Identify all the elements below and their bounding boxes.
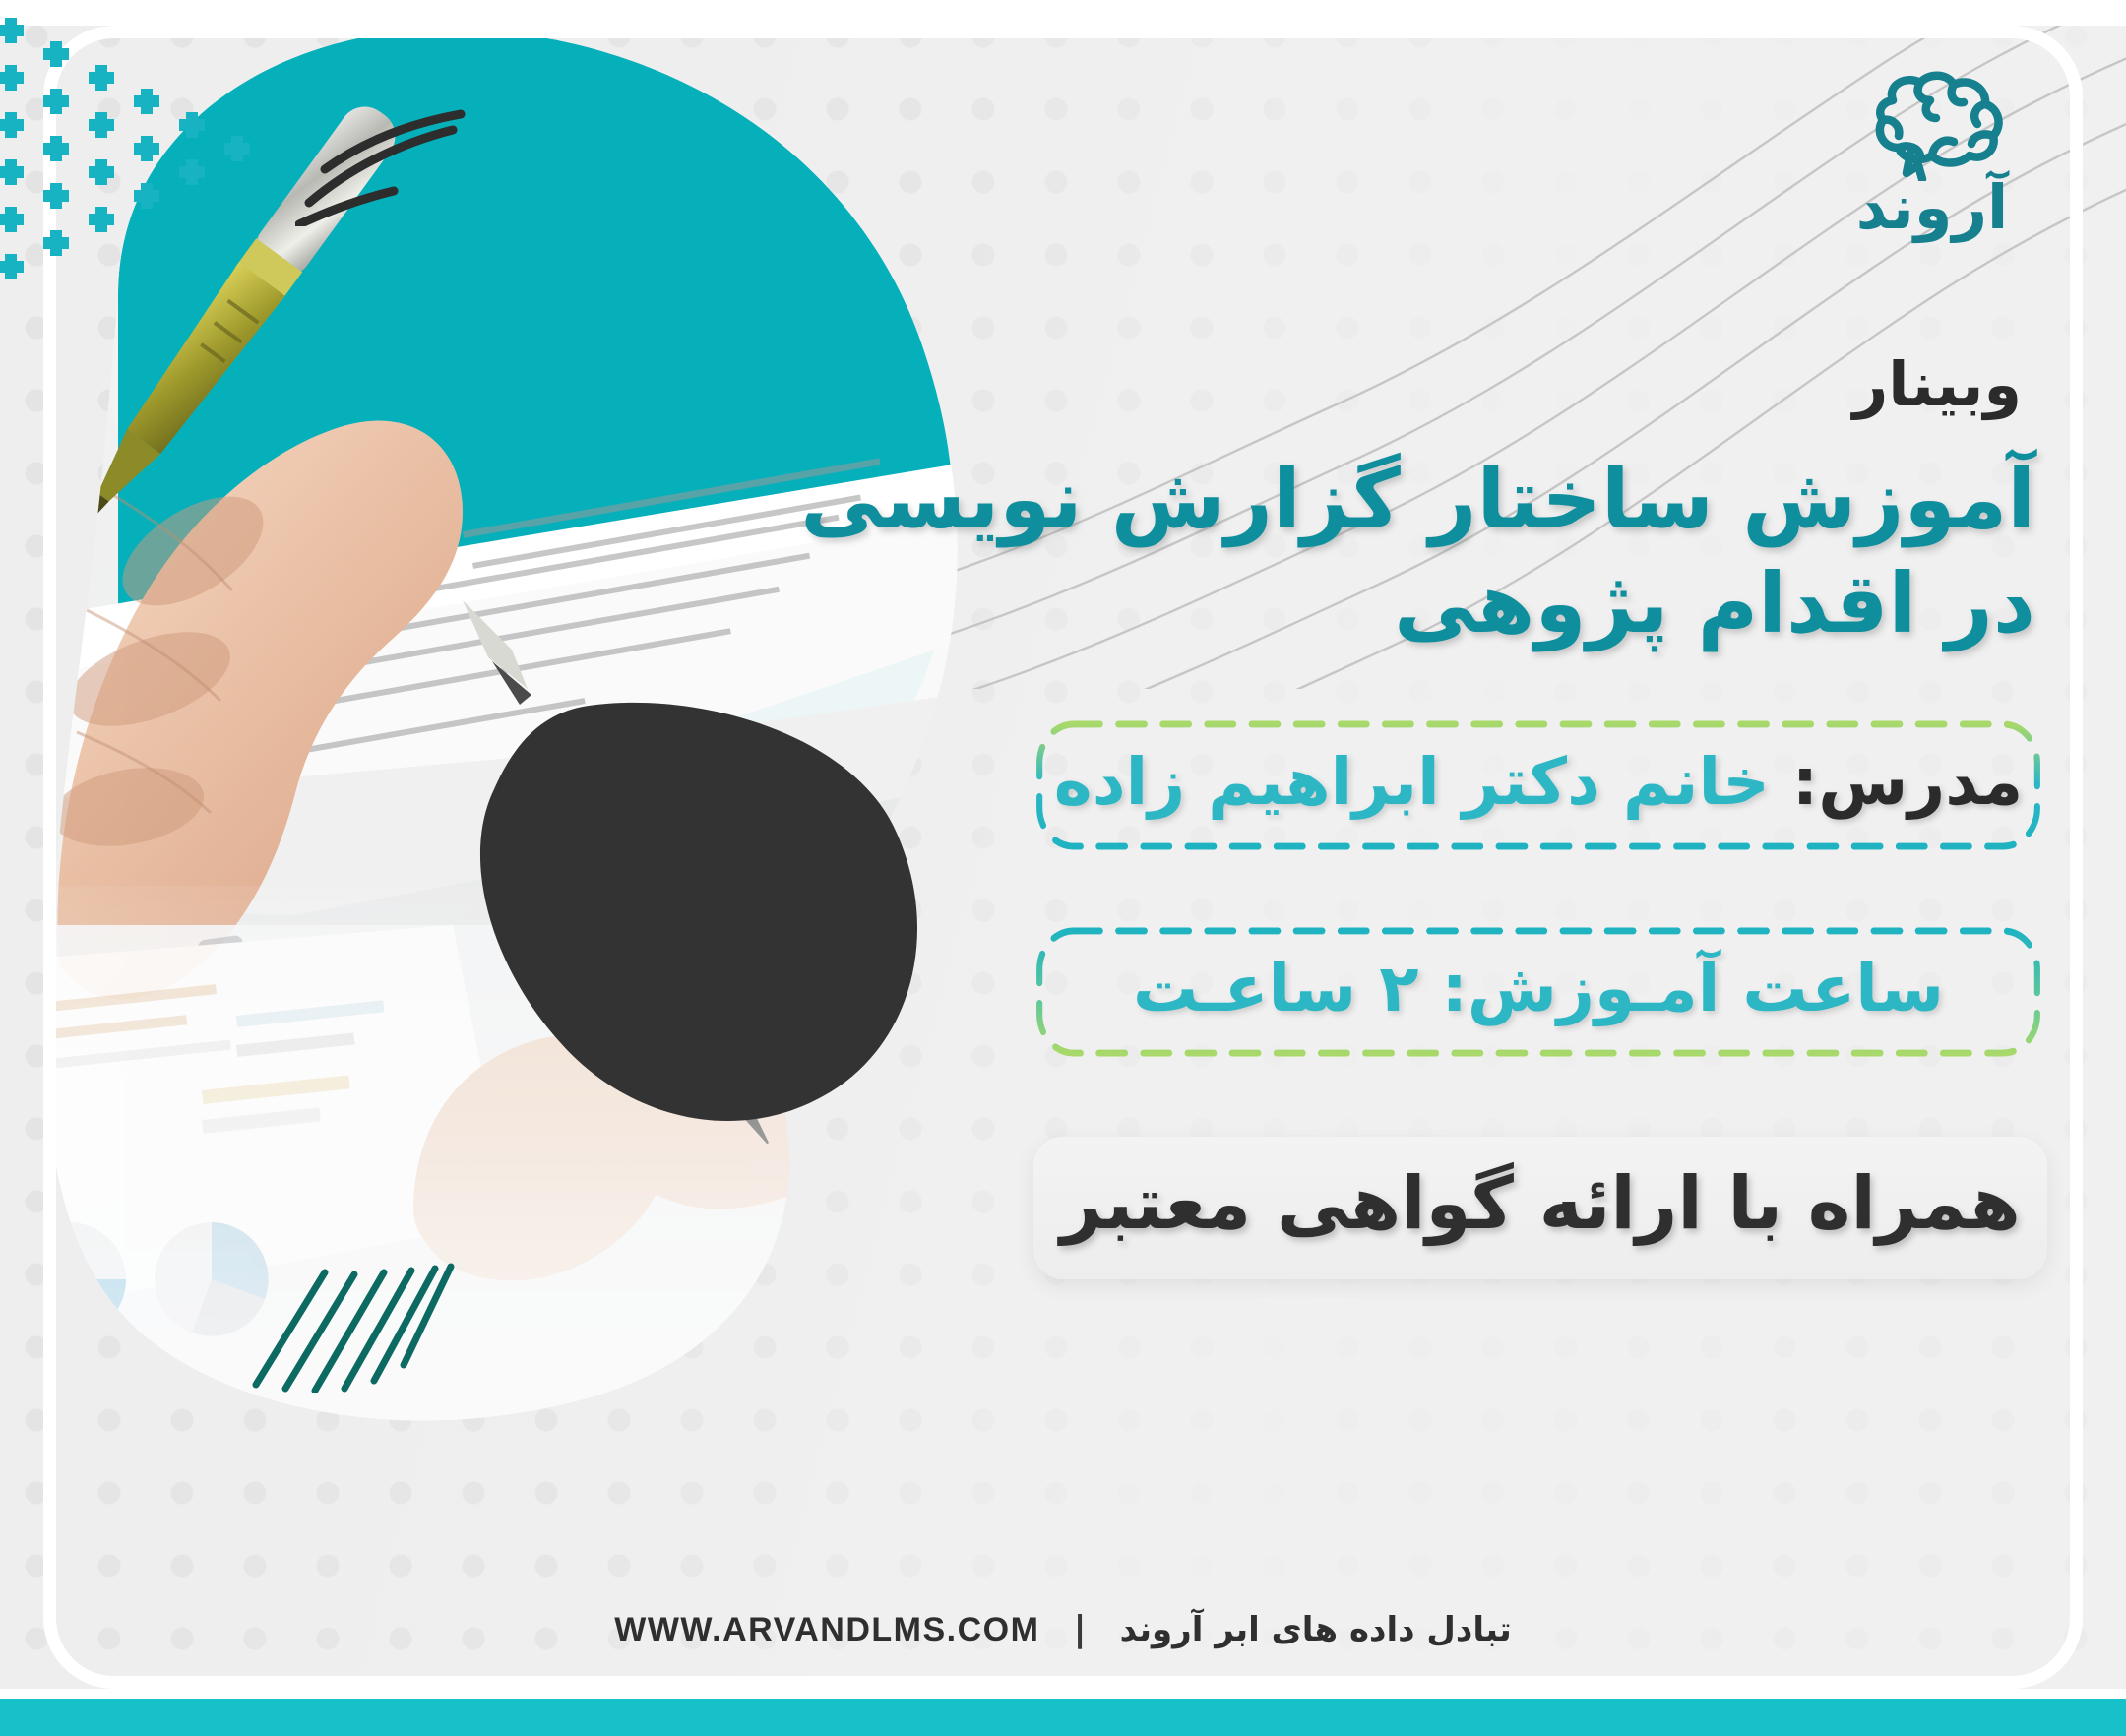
footer: تبادل داده های ابر آروند | WWW.ARVANDLMS… xyxy=(0,1610,2126,1649)
certificate-panel: همراه با ارائه گواهی معتبر xyxy=(1033,1137,2047,1279)
instructor-value: خانم دکتر ابراهیم زاده xyxy=(1054,744,1770,820)
content-column: وبینار آموزش ساختار گزارش نویسی در اقدام… xyxy=(1033,354,2057,1279)
pen-stroke-marks-icon xyxy=(295,108,522,226)
footer-tagline: تبادل داده های ابر آروند xyxy=(1120,1610,1512,1649)
duration-text: ساعت آمـوزش: ۲ ساعـت xyxy=(1133,952,1944,1026)
title-line-1: آموزش ساختار گزارش نویسی xyxy=(1033,449,2035,549)
kicker-label: وبینار xyxy=(1033,354,2022,415)
brain-icon xyxy=(1849,71,2015,181)
instructor-text: مدرس: خانم دکتر ابراهیم زاده xyxy=(1054,745,2024,820)
plus-grid-icon xyxy=(0,10,317,423)
page-title: آموزش ساختار گزارش نویسی در اقدام پژوهی xyxy=(1033,449,2035,654)
instructor-badge: مدرس: خانم دکتر ابراهیم زاده xyxy=(1033,717,2043,853)
instructor-label: مدرس: xyxy=(1792,744,2023,820)
certificate-text: همراه با ارائه گواهی معتبر xyxy=(1060,1162,2021,1246)
footer-website-url[interactable]: WWW.ARVANDLMS.COM xyxy=(614,1611,1039,1649)
bottom-accent-bar xyxy=(0,1699,2126,1736)
brand-logo[interactable]: آروند xyxy=(1819,71,2045,258)
poster-canvas: آروند وبینار آموزش ساختار گزارش نویسی در… xyxy=(0,0,2126,1736)
title-line-2: در اقدام پژوهی xyxy=(1033,553,2035,653)
footer-separator: | xyxy=(1073,1612,1086,1647)
frame-top-mask xyxy=(0,0,2126,26)
diagonal-hatch-icon xyxy=(248,1255,474,1393)
duration-badge: ساعت آمـوزش: ۲ ساعـت xyxy=(1033,924,2043,1060)
logo-wordmark: آروند xyxy=(1856,177,2009,238)
